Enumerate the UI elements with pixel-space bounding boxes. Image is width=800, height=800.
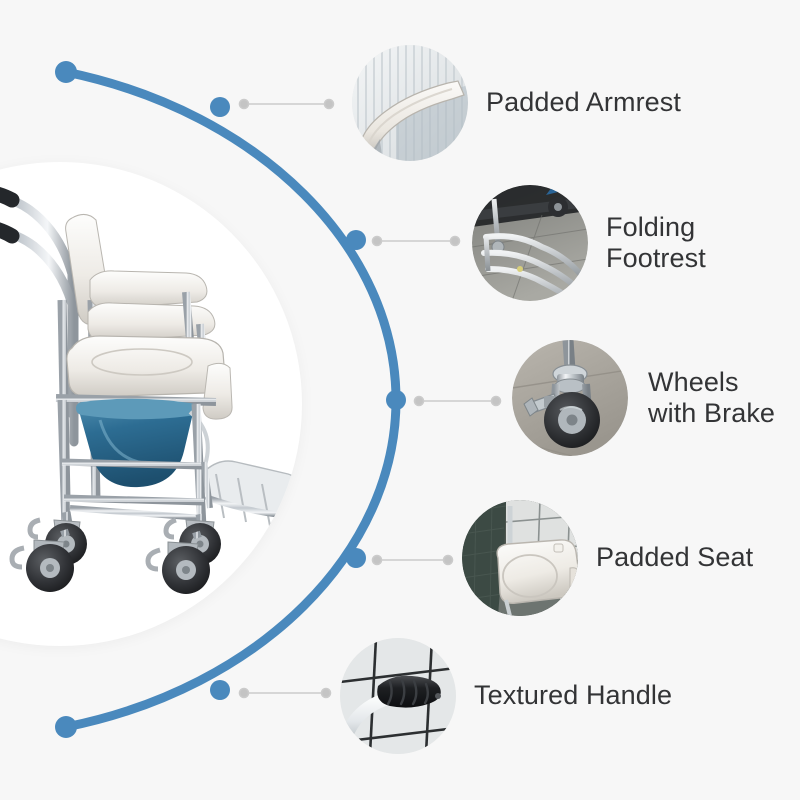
seat-photo-icon	[462, 500, 578, 616]
callout-wheels-with-brake[interactable]: Wheels with Brake	[512, 340, 775, 456]
footrest-photo-icon	[472, 185, 588, 301]
callout-label-folding-footrest: Folding Footrest	[606, 212, 800, 275]
callout-folding-footrest[interactable]: Folding Footrest	[472, 185, 800, 301]
infographic-canvas: Padded Armrest	[0, 0, 800, 800]
callout-label-padded-armrest: Padded Armrest	[486, 87, 681, 118]
callout-textured-handle[interactable]: Textured Handle	[340, 638, 672, 754]
handle-photo-icon	[340, 638, 456, 754]
caster-photo-icon	[512, 340, 628, 456]
callout-padded-armrest[interactable]: Padded Armrest	[352, 45, 681, 161]
callout-label-textured-handle: Textured Handle	[474, 680, 672, 711]
callout-label-wheels-with-brake: Wheels with Brake	[648, 367, 775, 430]
callout-padded-seat[interactable]: Padded Seat	[462, 500, 753, 616]
armrest-photo-icon	[352, 45, 468, 161]
callout-label-padded-seat: Padded Seat	[596, 542, 753, 573]
